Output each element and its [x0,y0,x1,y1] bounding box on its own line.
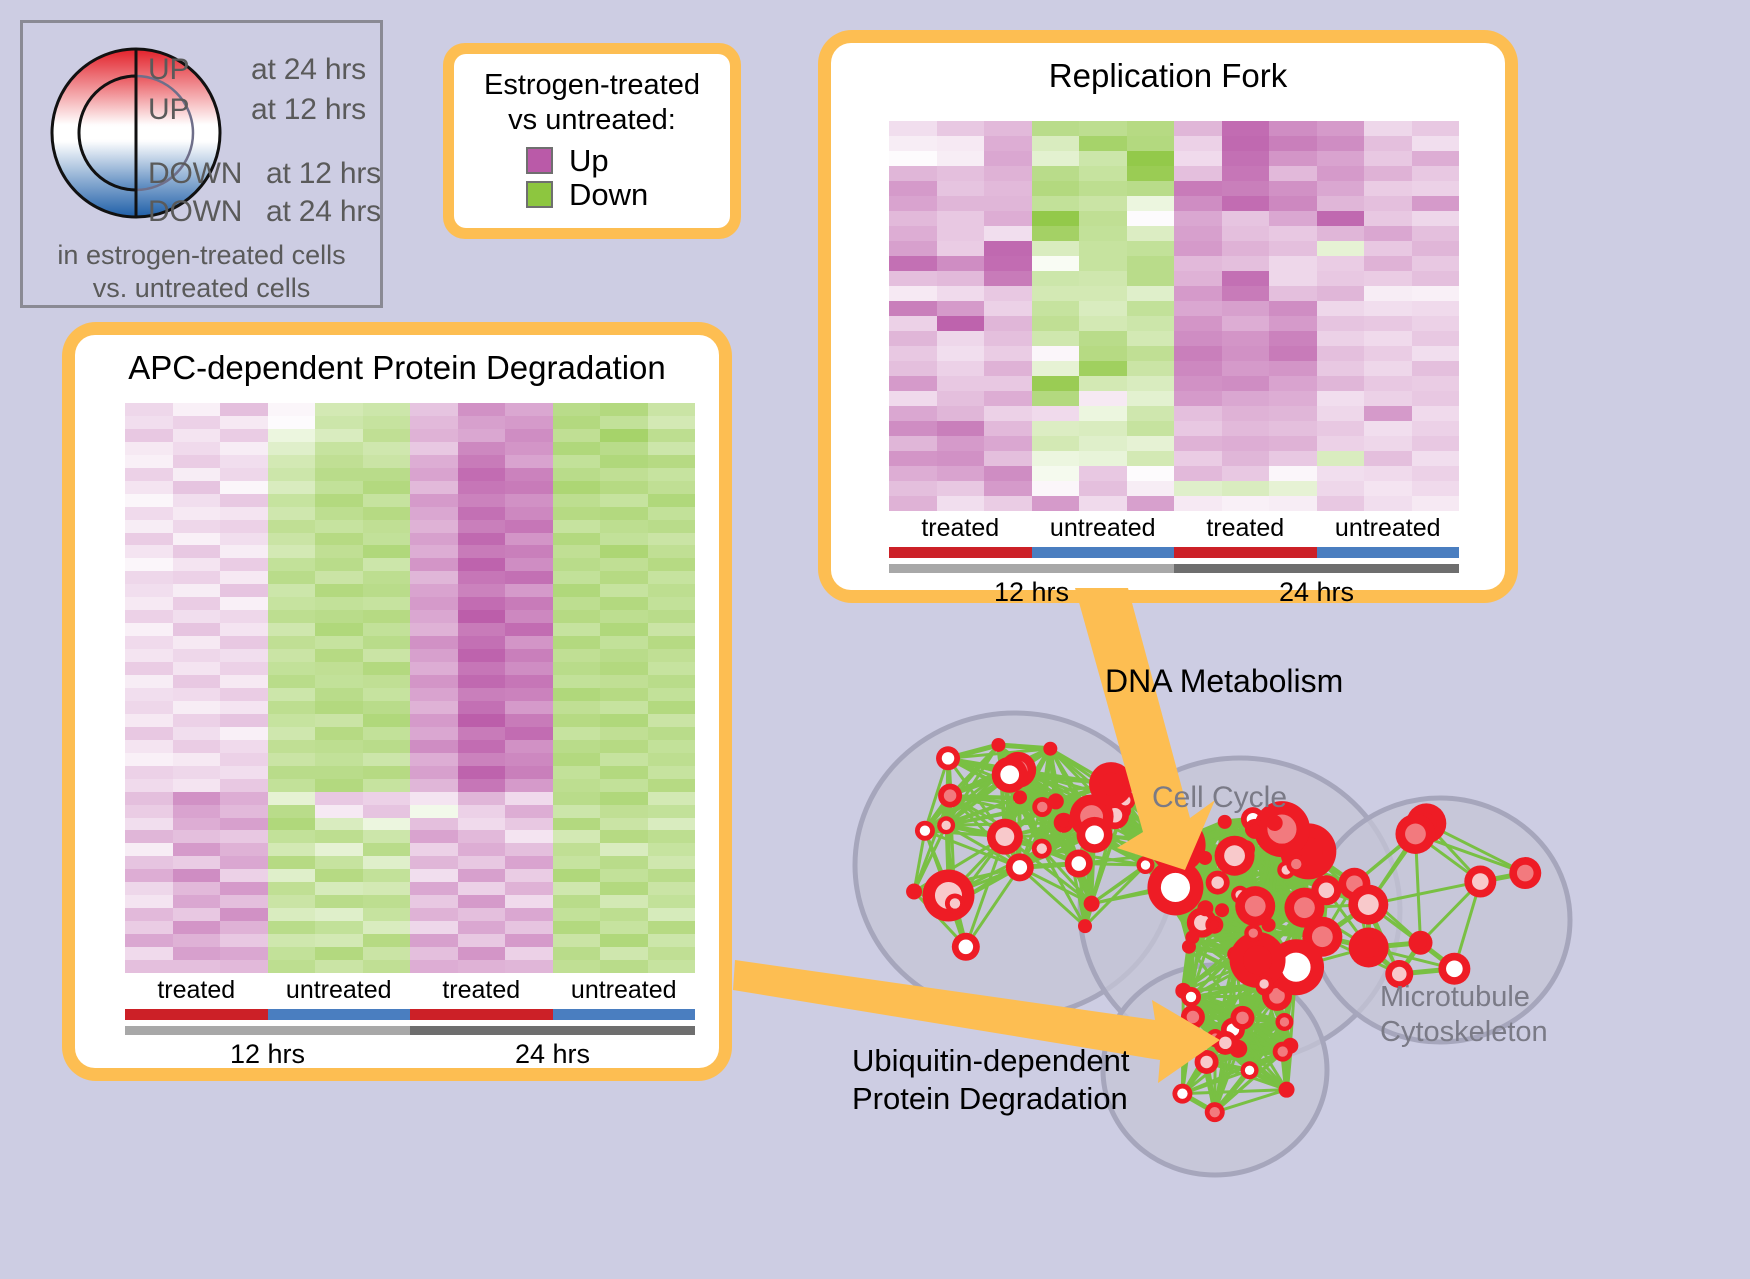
heatmap-cell [1222,181,1270,196]
heatmap-cell [1222,331,1270,346]
heatmap-cell [315,947,363,960]
heatmap-cell [1364,496,1412,511]
heatmap-cell [173,779,221,792]
heatmap-cell [505,623,553,636]
heatmap-cell [1174,346,1222,361]
heatmap-cell [458,921,506,934]
network-node[interactable] [1213,1031,1237,1055]
network-node[interactable] [1006,853,1034,881]
heatmap-cell [1364,406,1412,421]
heatmap-cell [1364,151,1412,166]
heatmap-cell [315,416,363,429]
heatmap-cell [553,792,601,805]
heatmap-cell [268,792,316,805]
heatmap-cell [937,301,985,316]
heatmap-cell [1174,466,1222,481]
heatmap-cell [363,882,411,895]
heatmap-cell [1317,436,1365,451]
heatmap-cell [410,766,458,779]
heatmap-cell [1269,376,1317,391]
heatmap-cell [458,623,506,636]
replication-fork-title: Replication Fork [831,43,1505,95]
network-node[interactable] [991,738,1005,752]
network-node[interactable] [1267,815,1283,831]
network-node[interactable] [1244,924,1262,942]
heatmap-cell [648,960,696,973]
heatmap-cell [220,610,268,623]
heatmap-cell [600,947,648,960]
heatmap-cell [268,908,316,921]
network-node[interactable] [1279,1082,1295,1098]
heatmap-cell [173,545,221,558]
heatmap-cell [505,869,553,882]
heatmap-cell [125,623,173,636]
heatmap-cell [1032,451,1080,466]
node-inner-core [1245,896,1266,917]
heatmap-cell [173,507,221,520]
heatmap-cell [220,921,268,934]
heatmap-cell [505,416,553,429]
node-inner-core [1319,882,1335,898]
heatmap-cell [1317,301,1365,316]
heatmap-cell [220,714,268,727]
heatmap-cell [410,571,458,584]
heatmap-cell [1364,421,1412,436]
heatmap-cell [648,779,696,792]
network-node[interactable] [936,746,960,770]
network-node[interactable] [937,816,955,834]
heatmap-cell [505,843,553,856]
heatmap-cell [984,451,1032,466]
heatmap-cell [1412,466,1460,481]
heatmap-cell [889,196,937,211]
heatmap-cell [1269,256,1317,271]
heatmap-cell [268,468,316,481]
heatmap-cell [1317,271,1365,286]
heatmap-cell [315,766,363,779]
network-node[interactable] [1084,896,1100,912]
heatmap-cell [125,921,173,934]
heatmap-cell [1269,301,1317,316]
network-node[interactable] [1013,790,1027,804]
network-node[interactable] [1181,987,1201,1007]
network-node[interactable] [1048,793,1064,809]
heatmap-cell [410,947,458,960]
heatmap-cell [648,843,696,856]
heatmap-cell [1222,301,1270,316]
heatmap-cell [1174,136,1222,151]
network-node[interactable] [992,757,1028,793]
heatmap-cell [458,701,506,714]
heatmap-cell [173,533,221,546]
heatmap-cell [1032,331,1080,346]
heatmap-cell [553,610,601,623]
heatmap-cell [363,934,411,947]
heatmap-cell [268,688,316,701]
heatmap-cell [1032,226,1080,241]
node-inner-core [1517,865,1534,882]
network-node[interactable] [938,784,962,808]
heatmap-cell [553,882,601,895]
heatmap-cell [410,507,458,520]
heatmap-cell [125,416,173,429]
heatmap-cell [1412,181,1460,196]
heatmap-cell [410,740,458,753]
heatmap-cell [984,286,1032,301]
apc-degradation-panel: APC-dependent Protein Degradation treate… [62,322,732,1081]
node-inner-core [996,827,1015,846]
heatmap-cell [1174,496,1222,511]
heatmap-cell [889,481,937,496]
heatmap-cell [648,649,696,662]
heatmap-cell [458,649,506,662]
condition-label: untreated [553,977,696,1003]
heatmap-cell [1127,451,1175,466]
heatmap-cell [220,481,268,494]
heatmap-cell [648,792,696,805]
heatmap-cell [315,701,363,714]
heatmap-cell [553,468,601,481]
heatmap-cell [220,908,268,921]
network-node[interactable] [1043,742,1057,756]
heatmap-cell [1174,226,1222,241]
heatmap-cell [1222,196,1270,211]
network-node[interactable] [1195,1050,1219,1074]
heatmap-cell [553,662,601,675]
cluster-label-microtubule-cytoskeleton: Microtubule Cytoskeleton [1380,980,1548,1051]
heatmap-cell [505,558,553,571]
heatmap-cell [173,843,221,856]
heatmap-cell [505,766,553,779]
heatmap-cell [505,727,553,740]
heatmap-cell [1079,286,1127,301]
heatmap-cell [1032,406,1080,421]
network-node[interactable] [952,933,980,961]
heatmap-cell [937,406,985,421]
heatmap-cell [458,714,506,727]
heatmap-cell [1222,211,1270,226]
heatmap-cell [648,520,696,533]
heatmap-cell [315,442,363,455]
node-inner-core [1405,824,1426,845]
heatmap-cell [458,779,506,792]
network-node[interactable] [1286,854,1306,874]
heatmap-cell [363,558,411,571]
heatmap-cell [600,558,648,571]
network-node[interactable] [922,869,974,921]
heatmap-cell [268,830,316,843]
heatmap-cell [363,740,411,753]
network-node[interactable] [945,893,965,913]
heatmap-cell [553,805,601,818]
heatmap-cell [505,468,553,481]
heatmap-cell [220,960,268,973]
heatmap-cell [984,316,1032,331]
heatmap-cell [173,571,221,584]
heatmap-cell [125,934,173,947]
heatmap-cell [1317,211,1365,226]
heatmap-cell [315,649,363,662]
heatmap-cell [553,507,601,520]
network-node[interactable] [1255,975,1273,993]
heatmap-cell [1317,241,1365,256]
heatmap-cell [553,455,601,468]
node-inner-core [1210,1107,1220,1117]
heatmap-cell [600,830,648,843]
network-node[interactable] [1205,916,1223,934]
network-node[interactable] [1054,813,1074,833]
heatmap-cell [1412,136,1460,151]
network-node[interactable] [1206,871,1230,895]
heatmap-cell [984,271,1032,286]
heatmap-cell [363,843,411,856]
heatmap-cell [173,766,221,779]
heatmap-cell [410,662,458,675]
heatmap-cell [1269,241,1317,256]
heatmap-cell [125,520,173,533]
node-inner-core [1013,860,1028,875]
heatmap-cell [1412,151,1460,166]
heatmap-cell [125,571,173,584]
heatmap-cell [125,960,173,973]
heatmap-cell [410,468,458,481]
heatmap-cell [315,869,363,882]
network-node[interactable] [1395,814,1435,854]
heatmap-cell [410,649,458,662]
network-node[interactable] [1215,836,1255,876]
heatmap-cell [363,753,411,766]
network-node[interactable] [1147,859,1203,915]
heatmap-cell [220,442,268,455]
heatmap-cell [1317,151,1365,166]
heatmap-cell [410,455,458,468]
heatmap-cell [1269,436,1317,451]
network-node[interactable] [1273,1042,1293,1062]
heatmap-cell [1412,481,1460,496]
condition-bar [268,1009,411,1020]
heatmap-cell [1317,256,1365,271]
network-node[interactable] [1218,815,1232,829]
apc-degradation-title: APC-dependent Protein Degradation [75,335,719,387]
heatmap-cell [125,455,173,468]
heatmap-cell [268,584,316,597]
network-node[interactable] [1275,1013,1293,1031]
heatmap-cell [984,376,1032,391]
network-node[interactable] [1215,903,1229,917]
ring-legend-time-2: at 12 hrs [266,157,381,191]
heatmap-cell [505,895,553,908]
heatmap-cell [173,908,221,921]
heatmap-cell [1269,451,1317,466]
network-node[interactable] [1241,1061,1259,1079]
heatmap-cell [1317,196,1365,211]
heatmap-cell [648,571,696,584]
network-node[interactable] [1348,885,1388,925]
network-node[interactable] [987,819,1023,855]
node-outer-ring [1084,896,1100,912]
heatmap-cell [458,805,506,818]
node-inner-core [1037,843,1047,853]
heatmap-cell [1317,226,1365,241]
heatmap-cell [984,421,1032,436]
heatmap-cell [1364,361,1412,376]
network-node[interactable] [1198,851,1212,865]
network-node[interactable] [1205,1102,1225,1122]
heatmap-cell [173,429,221,442]
cluster-label-dna-metabolism: DNA Metabolism [1105,662,1343,701]
heatmap-cell [410,753,458,766]
heatmap-cell [1174,166,1222,181]
heatmap-cell [458,740,506,753]
heatmap-cell [125,908,173,921]
heatmap-cell [268,921,316,934]
heatmap-cell [505,921,553,934]
node-inner-core [1161,873,1190,902]
heatmap-cell [458,571,506,584]
heatmap-cell [173,416,221,429]
network-node[interactable] [1065,850,1093,878]
updown-legend-item-up: Up [526,145,720,176]
heatmap-cell [315,584,363,597]
heatmap-cell [553,727,601,740]
heatmap-cell [1364,196,1412,211]
time-label: 12 hrs [125,1039,410,1070]
heatmap-cell [125,753,173,766]
heatmap-cell [1174,211,1222,226]
network-node[interactable] [1181,1005,1205,1029]
heatmap-cell [1127,466,1175,481]
heatmap-cell [648,688,696,701]
heatmap-cell [268,649,316,662]
heatmap-cell [363,429,411,442]
condition-label: untreated [1032,515,1175,541]
heatmap-cell [268,960,316,973]
network-node[interactable] [1172,1084,1192,1104]
network-node[interactable] [1156,846,1172,862]
heatmap-cell [363,779,411,792]
heatmap-cell [553,830,601,843]
network-node[interactable] [1509,857,1541,889]
node-inner-core [1259,979,1268,988]
network-node[interactable] [1089,762,1133,806]
network-node[interactable] [1245,819,1265,839]
heatmap-cell [315,610,363,623]
apc-condition-bars [125,1009,695,1020]
time-label: 12 hrs [889,577,1174,608]
heatmap-cell [1412,241,1460,256]
network-node[interactable] [1032,839,1052,859]
heatmap-cell [648,947,696,960]
heatmap-cell [600,468,648,481]
heatmap-cell [125,558,173,571]
network-node[interactable] [1349,927,1389,967]
heatmap-cell [1032,286,1080,301]
heatmap-cell [505,701,553,714]
heatmap-cell [1174,196,1222,211]
heatmap-cell [1222,136,1270,151]
heatmap-cell [220,636,268,649]
heatmap-cell [600,571,648,584]
heatmap-cell [173,818,221,831]
heatmap-cell [458,792,506,805]
heatmap-cell [648,727,696,740]
heatmap-cell [505,934,553,947]
heatmap-cell [553,597,601,610]
heatmap-cell [173,675,221,688]
node-outer-ring [1197,900,1213,916]
node-inner-core [1312,926,1333,947]
heatmap-cell [268,869,316,882]
network-node[interactable] [1409,931,1433,955]
heatmap-cell [220,779,268,792]
time-bar [889,564,1174,573]
time-bar [410,1026,695,1035]
heatmap-cell [1127,421,1175,436]
heatmap-cell [410,636,458,649]
network-node[interactable] [1078,919,1092,933]
heatmap-cell [315,934,363,947]
network-node[interactable] [1137,856,1155,874]
replication-fork-time-bars [889,564,1459,573]
heatmap-cell [458,843,506,856]
heatmap-cell [363,792,411,805]
heatmap-cell [889,436,937,451]
heatmap-cell [125,701,173,714]
heatmap-cell [1412,121,1460,136]
up-label: Up [569,145,609,176]
heatmap-cell [600,416,648,429]
heatmap-cell [315,429,363,442]
heatmap-cell [553,818,601,831]
heatmap-cell [125,429,173,442]
network-node[interactable] [1197,900,1213,916]
heatmap-cell [505,960,553,973]
network-node[interactable] [1185,930,1199,944]
heatmap-cell [268,623,316,636]
heatmap-cell [363,649,411,662]
network-node[interactable] [906,883,922,899]
network-node[interactable] [1230,1006,1254,1030]
heatmap-cell [1174,316,1222,331]
heatmap-cell [125,468,173,481]
network-node[interactable] [1262,918,1276,932]
heatmap-cell [1269,361,1317,376]
network-node[interactable] [915,821,935,841]
network-node[interactable] [1464,866,1496,898]
time-bar [125,1026,410,1035]
network-node[interactable] [1311,875,1341,905]
heatmap-cell [173,701,221,714]
heatmap-cell [220,753,268,766]
heatmap-cell [363,662,411,675]
heatmap-cell [505,818,553,831]
node-outer-ring [991,738,1005,752]
heatmap-cell [268,416,316,429]
heatmap-cell [553,429,601,442]
heatmap-cell [220,740,268,753]
heatmap-cell [125,740,173,753]
heatmap-cell [220,649,268,662]
heatmap-cell [600,753,648,766]
heatmap-cell [553,766,601,779]
network-node[interactable] [1077,817,1113,853]
heatmap-cell [268,934,316,947]
heatmap-cell [1222,271,1270,286]
heatmap-cell [1079,301,1127,316]
heatmap-cell [315,507,363,520]
heatmap-cell [173,584,221,597]
heatmap-cell [1127,376,1175,391]
